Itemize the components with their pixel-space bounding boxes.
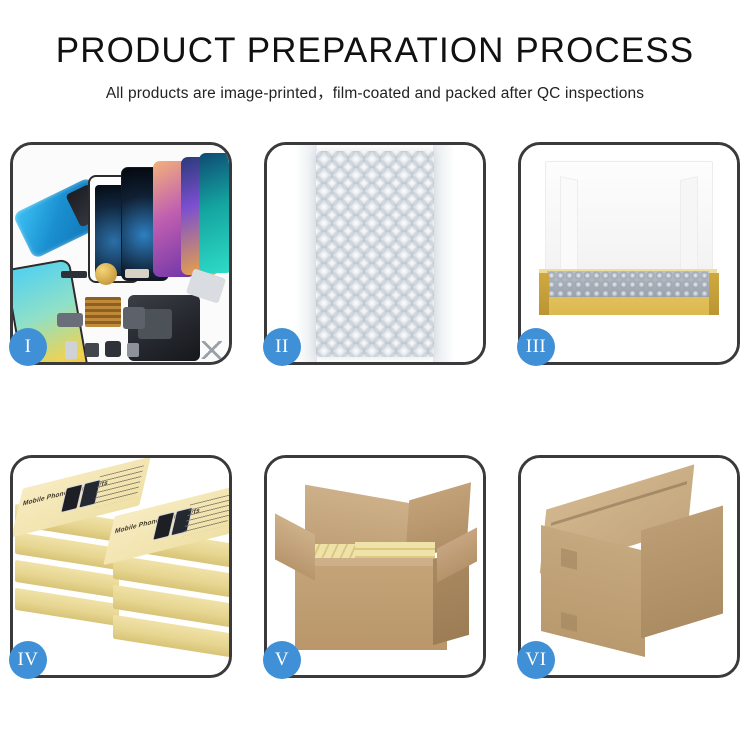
page-header: PRODUCT PREPARATION PROCESS All products… [0, 0, 750, 103]
process-step-phone-parts: I [10, 142, 232, 365]
bubble-wrap-edge-left [295, 145, 317, 362]
step-image-open-carton [267, 458, 483, 675]
step-badge-4: IV [9, 641, 47, 679]
process-step-stacked-boxes: Mobile Phone Spare Parts Mobile Phone Sp… [10, 455, 232, 678]
sim-tray-part [65, 341, 77, 359]
sealed-carton-tape-upper [561, 548, 577, 570]
flex-cable-part [125, 269, 149, 278]
step-image-bubble-wrap [267, 145, 483, 362]
step-badge-5: V [263, 641, 301, 679]
vibrator-part [123, 307, 145, 329]
inner-box-lid-flap-left [560, 176, 578, 278]
process-step-inner-box: III [518, 142, 740, 365]
earpiece-part [105, 341, 121, 357]
step-image-phone-parts [13, 145, 229, 362]
open-carton-scene [267, 458, 483, 675]
process-step-open-carton: V [264, 455, 486, 678]
button-part [127, 343, 139, 357]
process-step-bubble-wrap: II [264, 142, 486, 365]
inner-box-corner-left [539, 273, 549, 315]
bubble-wrap-sheet [316, 151, 434, 357]
inner-box-corner-right [709, 273, 719, 315]
phone-teal [199, 153, 229, 273]
battery-connector-part [61, 271, 87, 278]
step-badge-3: III [517, 328, 555, 366]
inner-box-bubble-wrap-content [547, 271, 709, 297]
carton-front-face [295, 566, 447, 650]
step-badge-1: I [9, 328, 47, 366]
bubble-wrap-scene [267, 145, 483, 362]
phone-parts-scene [13, 145, 229, 362]
step-image-sealed-carton [521, 458, 737, 675]
sealed-carton-scene [521, 458, 737, 675]
box-label-spec-lines-rear [93, 465, 144, 508]
step-image-inner-box [521, 145, 737, 362]
inner-box-lid-flap-right [680, 176, 698, 278]
inner-box-scene [521, 145, 737, 362]
inner-box-lid [545, 161, 713, 281]
page-subtitle: All products are image-printed，film-coat… [0, 70, 750, 103]
step-badge-2: II [263, 328, 301, 366]
process-step-sealed-carton: VI [518, 455, 740, 678]
stacked-boxes-scene: Mobile Phone Spare Parts Mobile Phone Sp… [13, 458, 229, 675]
camera-module-part [57, 313, 83, 327]
step-image-stacked-boxes: Mobile Phone Spare Parts Mobile Phone Sp… [13, 458, 229, 675]
bubble-wrap-edge-right [433, 145, 455, 362]
small-chip-part [85, 343, 99, 357]
screws-part [201, 341, 223, 359]
speaker-part [95, 263, 117, 285]
step-badge-6: VI [517, 641, 555, 679]
process-step-grid: I II III [10, 142, 740, 678]
page-title: PRODUCT PREPARATION PROCESS [0, 0, 750, 70]
box-label-spec-lines-front [183, 494, 229, 537]
connector-grid-part [85, 297, 121, 327]
